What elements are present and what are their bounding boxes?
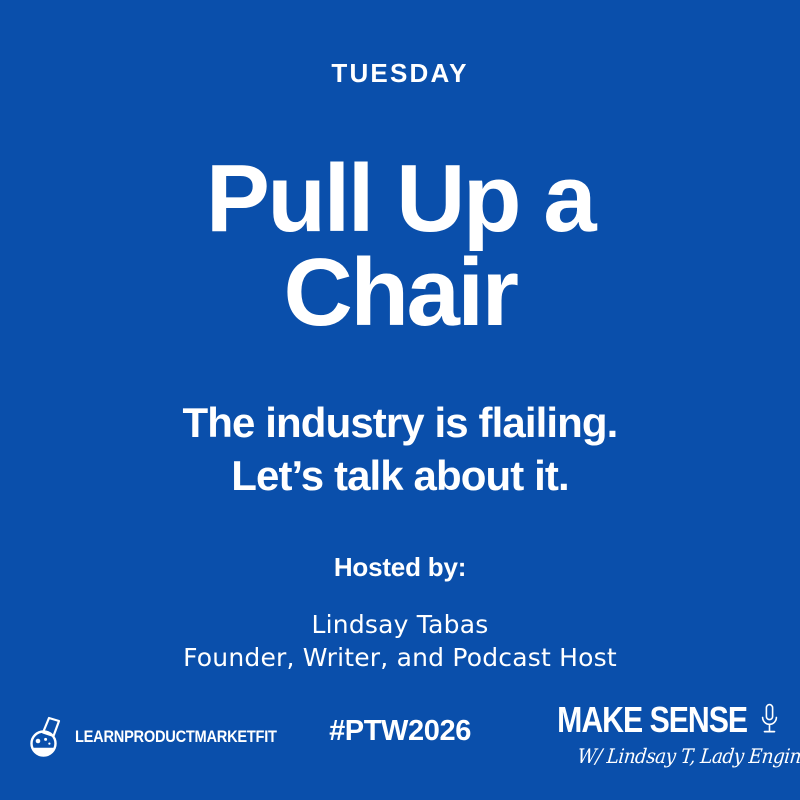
event-poster: TUESDAY Pull Up a Chair The industry is …	[0, 0, 800, 800]
host-role: Founder, Writer, and Podcast Host	[0, 641, 800, 674]
day-label: TUESDAY	[0, 60, 800, 86]
podcast-lockup: MAKE SENSE W/ Lindsay T, Lady Engineer®	[560, 702, 780, 782]
microphone-icon	[759, 703, 780, 737]
title-line-1: Pull Up a	[0, 152, 800, 246]
host-details: Lindsay Tabas Founder, Writer, and Podca…	[0, 608, 800, 674]
podcast-subtitle: W/ Lindsay T, Lady Engineer®	[577, 746, 781, 766]
hosted-by-label: Hosted by:	[0, 554, 800, 580]
footer: LEARNPRODUCTMARKETFIT #PTW2026 MAKE SENS…	[0, 690, 800, 800]
title-line-2: Chair	[0, 246, 800, 340]
subtitle: The industry is flailing. Let’s talk abo…	[0, 396, 800, 503]
podcast-title: MAKE SENSE	[557, 702, 747, 738]
page-title: Pull Up a Chair	[0, 152, 800, 340]
subtitle-line-1: The industry is flailing.	[0, 396, 800, 449]
host-name: Lindsay Tabas	[0, 608, 800, 641]
subtitle-line-2: Let’s talk about it.	[0, 449, 800, 502]
podcast-title-row: MAKE SENSE	[560, 702, 780, 738]
